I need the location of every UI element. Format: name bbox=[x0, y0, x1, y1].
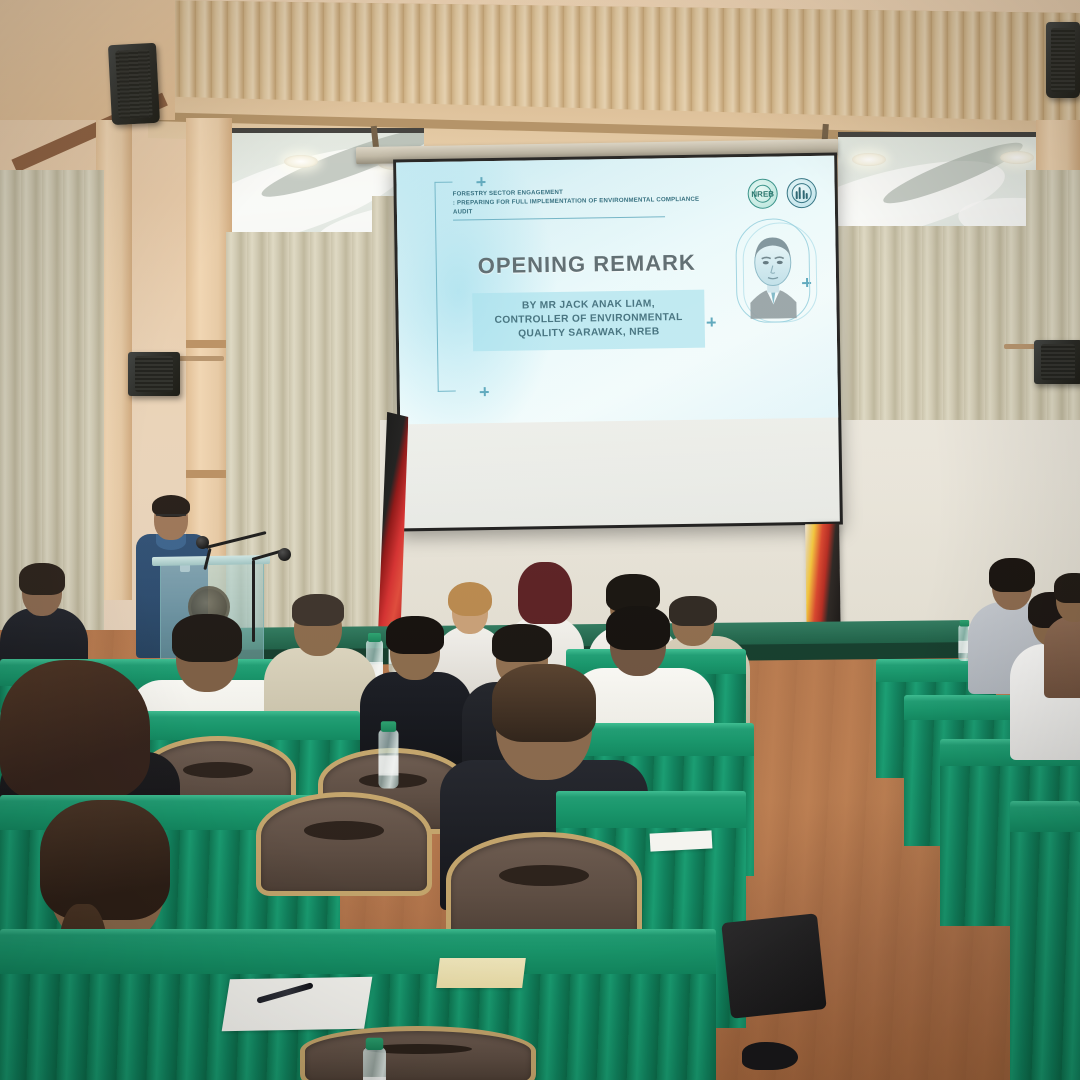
bottle-cap bbox=[366, 1038, 384, 1050]
wall-speaker bbox=[1046, 22, 1080, 98]
person-hair bbox=[0, 660, 150, 800]
speaker-grill-icon bbox=[135, 356, 172, 393]
projector-screen: FORESTRY SECTOR ENGAGEMENT : PREPARING F… bbox=[393, 153, 843, 532]
forestry-department-logo bbox=[786, 178, 816, 208]
person-hair bbox=[518, 562, 572, 624]
water-bottle bbox=[363, 1047, 386, 1080]
microphone-head-icon bbox=[196, 536, 209, 549]
table-edge bbox=[556, 791, 746, 797]
slide-header: FORESTRY SECTOR ENGAGEMENT : PREPARING F… bbox=[453, 186, 703, 221]
ceiling-light bbox=[284, 155, 318, 168]
slide-header-rule bbox=[453, 216, 665, 220]
slide-crosshair-icon bbox=[480, 387, 489, 396]
bottle-cap bbox=[381, 721, 396, 732]
table-edge bbox=[0, 929, 716, 935]
table-edge bbox=[1010, 801, 1080, 807]
wall-speaker bbox=[108, 43, 160, 125]
microphone-head-icon bbox=[278, 548, 291, 561]
slide-crosshair-icon bbox=[707, 317, 716, 326]
speaker-portrait-illustration bbox=[733, 218, 813, 323]
shoe bbox=[742, 1042, 798, 1070]
person-hair bbox=[292, 594, 344, 626]
conference-table-foreground bbox=[0, 934, 716, 974]
speaker-grill-icon bbox=[1051, 28, 1075, 92]
conference-hall-photo: FORESTRY SECTOR ENGAGEMENT : PREPARING F… bbox=[0, 0, 1080, 1080]
forestry-logo-mark-icon bbox=[795, 187, 808, 199]
slide-crosshair-icon bbox=[476, 177, 485, 186]
chair-back bbox=[256, 792, 432, 896]
portrait-face-icon bbox=[745, 230, 800, 319]
conference-table bbox=[1010, 806, 1080, 832]
person-hair bbox=[989, 558, 1035, 592]
person-torso bbox=[1044, 616, 1080, 698]
person-hair bbox=[40, 800, 170, 920]
slide-header-line2: : PREPARING FOR FULL IMPLEMENTATION OF E… bbox=[453, 195, 703, 217]
person-hair bbox=[448, 582, 492, 616]
speaker-grill-icon bbox=[115, 50, 153, 119]
chair-back bbox=[300, 1026, 536, 1080]
slide-title: OPENING REMARK bbox=[462, 250, 712, 280]
bottle-label bbox=[378, 755, 398, 775]
banquet-chair bbox=[300, 1026, 536, 1080]
person-hair bbox=[606, 606, 670, 650]
slide-logo-group: NREB bbox=[747, 178, 816, 209]
person-hair bbox=[492, 624, 552, 662]
chair-back-slot bbox=[183, 762, 253, 778]
table-skirt bbox=[1010, 832, 1080, 1080]
paper-sheet bbox=[222, 977, 373, 1031]
banquet-chair bbox=[256, 792, 432, 896]
conference-table bbox=[556, 796, 746, 828]
ceiling-light bbox=[1000, 151, 1034, 164]
slide-subtitle-box: BY MR JACK ANAK LIAM, CONTROLLER OF ENVI… bbox=[472, 290, 705, 352]
person-hair bbox=[492, 664, 596, 742]
person-hair bbox=[19, 563, 65, 595]
nreb-logo: NREB bbox=[747, 178, 777, 208]
presentation-slide: FORESTRY SECTOR ENGAGEMENT : PREPARING F… bbox=[396, 156, 838, 425]
person-hair bbox=[1054, 573, 1080, 603]
nreb-logo-label: NREB bbox=[751, 189, 774, 198]
paper-sheet bbox=[650, 830, 713, 851]
wall-speaker bbox=[128, 352, 180, 396]
backpack-bag bbox=[721, 913, 827, 1019]
speaker-mount-arm bbox=[176, 356, 224, 361]
ceiling-light bbox=[852, 153, 886, 166]
chair-back-slot bbox=[499, 865, 588, 886]
person-hair bbox=[172, 614, 242, 662]
audience-person bbox=[1044, 576, 1080, 686]
speaker-grill-icon bbox=[1041, 344, 1076, 381]
wall-speaker bbox=[1034, 340, 1080, 384]
person-hair bbox=[386, 616, 444, 654]
eyeglasses-icon bbox=[156, 514, 186, 521]
yellow-notepad bbox=[436, 958, 526, 988]
water-bottle bbox=[378, 730, 398, 789]
chair-back-slot bbox=[304, 821, 384, 840]
